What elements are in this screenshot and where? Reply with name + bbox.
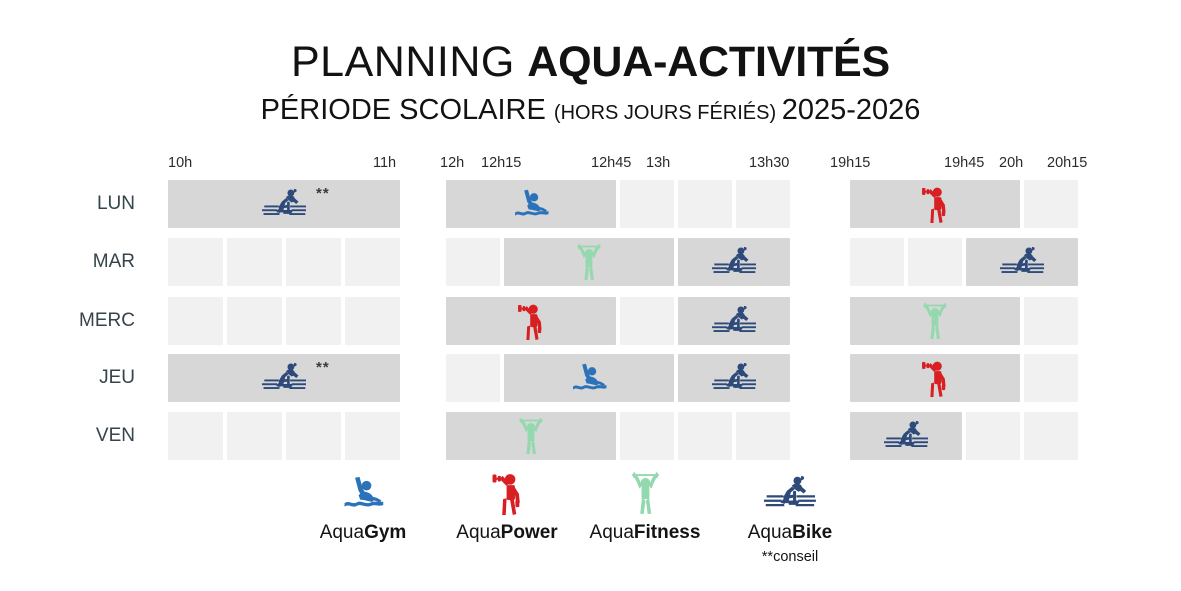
legend-note: **conseil [690, 549, 890, 565]
legend-label-bold: Bike [792, 522, 832, 543]
slot-empty [227, 238, 282, 286]
slot-empty [286, 297, 341, 345]
time-label: 13h30 [749, 155, 789, 171]
session-aquabike[interactable] [678, 297, 790, 345]
session-aquabike[interactable]: ** [168, 180, 400, 228]
slot-empty [1024, 412, 1078, 460]
session-aquabike[interactable] [678, 354, 790, 402]
session-aquabike[interactable]: ** [168, 354, 400, 402]
slot-empty [678, 412, 732, 460]
day-label-merc: MERC [25, 310, 135, 332]
legend-label-bold: Gym [364, 522, 406, 543]
bike-icon [690, 470, 890, 516]
barbell-icon [504, 238, 674, 286]
slot-empty [736, 180, 790, 228]
time-label: 13h [646, 155, 670, 171]
time-label: 19h15 [830, 155, 870, 171]
slot-empty [966, 412, 1020, 460]
slot-empty [620, 180, 674, 228]
dumbbell-icon [850, 354, 1020, 402]
time-label: 10h [168, 155, 192, 171]
barbell-icon [446, 412, 616, 460]
session-aquabike[interactable] [966, 238, 1078, 286]
conseil-marker: ** [316, 186, 330, 201]
time-label: 12h [440, 155, 464, 171]
slot-empty [1024, 297, 1078, 345]
legend: AquaGym AquaPower [0, 470, 1181, 580]
slot-empty [1024, 354, 1078, 402]
session-aquagym[interactable] [504, 354, 674, 402]
day-label-mar: MAR [25, 251, 135, 273]
slot-empty [908, 238, 962, 286]
barbell-icon [850, 297, 1020, 345]
time-label: 19h45 [944, 155, 984, 171]
slot-empty [620, 412, 674, 460]
time-label: 20h15 [1047, 155, 1087, 171]
slot-empty [678, 180, 732, 228]
session-aquafitness[interactable] [504, 238, 674, 286]
slot-empty [286, 412, 341, 460]
slot-empty [345, 238, 400, 286]
bike-icon [678, 354, 790, 402]
session-aquabike[interactable] [850, 412, 962, 460]
slot-empty [168, 238, 223, 286]
conseil-marker: ** [316, 360, 330, 375]
bike-icon [678, 238, 790, 286]
legend-label: AquaBike [690, 522, 890, 544]
legend-item-aquabike[interactable]: AquaBike**conseil [690, 470, 890, 565]
session-aquagym[interactable] [446, 180, 616, 228]
bike-icon [168, 180, 400, 228]
legend-label-prefix: Aqua [456, 522, 500, 543]
time-label: 20h [999, 155, 1023, 171]
bike-icon [850, 412, 962, 460]
time-label: 12h15 [481, 155, 521, 171]
session-aquapower[interactable] [446, 297, 616, 345]
time-label: 11h [373, 155, 396, 171]
planning-poster: PLANNING AQUA-ACTIVITÉS PÉRIODE SCOLAIRE… [0, 0, 1181, 591]
session-aquafitness[interactable] [446, 412, 616, 460]
session-aquabike[interactable] [678, 238, 790, 286]
slot-empty [446, 354, 500, 402]
slot-empty [168, 297, 223, 345]
bike-icon [966, 238, 1078, 286]
time-label: 12h45 [591, 155, 631, 171]
session-aquafitness[interactable] [850, 297, 1020, 345]
legend-label-prefix: Aqua [748, 522, 792, 543]
slot-empty [286, 238, 341, 286]
legend-label-prefix: Aqua [320, 522, 364, 543]
slot-empty [345, 297, 400, 345]
session-aquapower[interactable] [850, 180, 1020, 228]
swimmer-icon [504, 354, 674, 402]
day-label-jeu: JEU [25, 367, 135, 389]
slot-empty [227, 297, 282, 345]
slot-empty [227, 412, 282, 460]
dumbbell-icon [850, 180, 1020, 228]
slot-empty [620, 297, 674, 345]
session-aquapower[interactable] [850, 354, 1020, 402]
slot-empty [1024, 180, 1078, 228]
dumbbell-icon [446, 297, 616, 345]
bike-icon [678, 297, 790, 345]
swimmer-icon [446, 180, 616, 228]
slot-empty [736, 412, 790, 460]
slot-empty [850, 238, 904, 286]
day-label-ven: VEN [25, 425, 135, 447]
slot-empty [168, 412, 223, 460]
slot-empty [446, 238, 500, 286]
day-label-lun: LUN [25, 193, 135, 215]
slot-empty [345, 412, 400, 460]
legend-label-prefix: Aqua [590, 522, 634, 543]
bike-icon [168, 354, 400, 402]
